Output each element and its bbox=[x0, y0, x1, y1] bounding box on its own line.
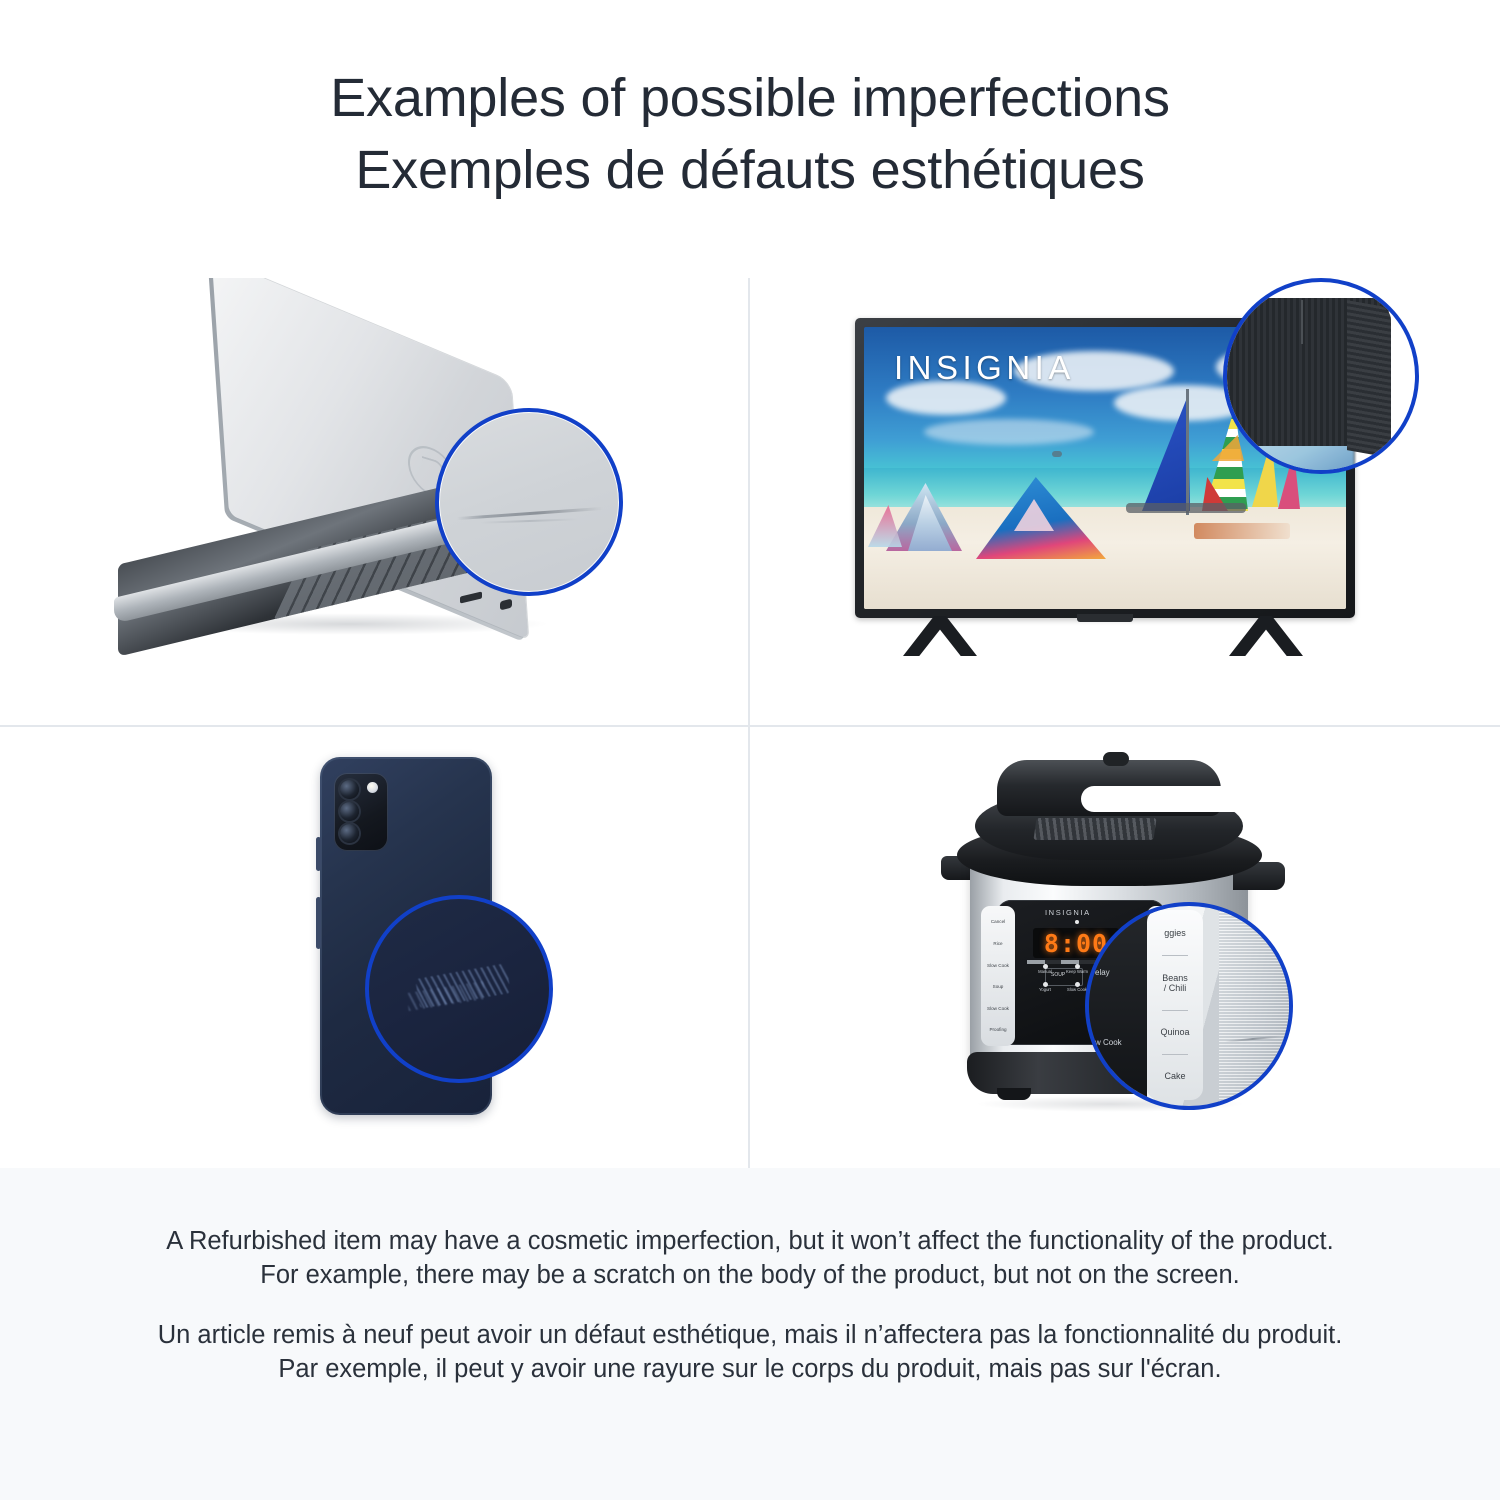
button-divider bbox=[1162, 1054, 1188, 1055]
cooker-button-slow-cook[interactable]: Slow Cook bbox=[983, 963, 1013, 968]
magnified-button-steam-veggies[interactable]: ggies bbox=[1164, 928, 1186, 938]
laptop-stage bbox=[0, 278, 748, 725]
insignia-brand-logo: INSIGNIA bbox=[894, 349, 1075, 387]
phone-power-button bbox=[316, 897, 321, 949]
cell-laptop bbox=[0, 278, 748, 725]
keypad-led bbox=[1043, 982, 1048, 987]
cooker-stage: INSIGNIA 8:00 SOUP Manual Keep Warm Dela… bbox=[750, 727, 1500, 1168]
tv-stand-right bbox=[1229, 616, 1303, 656]
keypad-button[interactable]: Manual bbox=[1031, 964, 1059, 975]
phone-stage bbox=[0, 727, 748, 1168]
button-divider bbox=[1162, 955, 1188, 956]
product-image-grid: INSIGNIA bbox=[0, 278, 1500, 1168]
keypad-button[interactable]: Keep Warm bbox=[1063, 964, 1091, 975]
cooker-magnified-buttons[interactable]: ggies Beans/ Chili Quinoa Cake bbox=[1147, 910, 1203, 1100]
laptop-scratch-mark-secondary bbox=[479, 518, 579, 523]
boat-hull bbox=[1126, 503, 1246, 513]
cooker-magnified-label-delay: elay bbox=[1095, 968, 1110, 977]
tv-bezel-seam bbox=[1301, 300, 1303, 344]
cooker-status-indicator bbox=[1075, 920, 1079, 924]
laptop-scratch-mark bbox=[457, 507, 603, 520]
cooker-brand-logo: INSIGNIA bbox=[1045, 908, 1091, 917]
camera-lens-icon bbox=[340, 802, 359, 821]
cooker-pressure-valve bbox=[1103, 752, 1129, 766]
magnifier-circle-tv bbox=[1223, 278, 1419, 474]
camera-lens-icon bbox=[340, 780, 359, 799]
keypad-led bbox=[1075, 982, 1080, 987]
tv-stand-left bbox=[903, 616, 977, 656]
camera-flash-icon bbox=[367, 782, 378, 793]
magnifier-circle-laptop bbox=[435, 408, 623, 596]
phone-volume-button bbox=[316, 837, 321, 871]
page-header: Examples of possible imperfections Exemp… bbox=[0, 0, 1500, 278]
keypad-led bbox=[1075, 964, 1080, 969]
sailboat-mast bbox=[1186, 389, 1189, 515]
magnified-button-cake[interactable]: Cake bbox=[1164, 1071, 1185, 1081]
caption-text-en: A Refurbished item may have a cosmetic i… bbox=[150, 1224, 1350, 1292]
pressure-cooker-illustration: INSIGNIA 8:00 SOUP Manual Keep Warm Dela… bbox=[935, 752, 1335, 1147]
laptop-illustration bbox=[140, 313, 610, 673]
cooker-handle-opening bbox=[1081, 786, 1261, 812]
phone-camera-module bbox=[334, 773, 388, 851]
tv-illustration: INSIGNIA bbox=[855, 318, 1375, 678]
keypad-button[interactable]: Yogurt bbox=[1031, 982, 1059, 993]
caption-panel: A Refurbished item may have a cosmetic i… bbox=[0, 1168, 1500, 1500]
cooker-button-rice[interactable]: Rice bbox=[983, 941, 1013, 946]
page-title-fr: Exemples de défauts esthétiques bbox=[355, 134, 1144, 206]
cooker-magnified-panel bbox=[1089, 906, 1147, 1106]
cell-television: INSIGNIA bbox=[750, 278, 1500, 725]
cooker-lid-label bbox=[1033, 818, 1156, 840]
beached-hull bbox=[1194, 523, 1290, 539]
page-title-en: Examples of possible imperfections bbox=[330, 62, 1170, 134]
magnifier-circle-cooker: elay w Cook ggies Beans/ Chili Quinoa Ca… bbox=[1085, 902, 1293, 1110]
caption-text-fr: Un article remis à neuf peut avoir un dé… bbox=[150, 1318, 1350, 1386]
page-root: Examples of possible imperfections Exemp… bbox=[0, 0, 1500, 1500]
cooker-lid-handle bbox=[997, 760, 1221, 816]
camera-lens-icon bbox=[340, 824, 359, 843]
cooker-button-proofing[interactable]: Proofing bbox=[983, 1027, 1013, 1032]
keypad-led bbox=[1043, 964, 1048, 969]
cooker-foot-left bbox=[997, 1088, 1031, 1100]
cloud-shape bbox=[924, 419, 1094, 445]
cooker-magnified-steel-surface bbox=[1219, 906, 1289, 1106]
cell-smartphone bbox=[0, 727, 748, 1168]
cell-pressure-cooker: INSIGNIA 8:00 SOUP Manual Keep Warm Dela… bbox=[750, 727, 1500, 1168]
phone-illustration bbox=[290, 747, 540, 1147]
cooker-button-soup[interactable]: Soup bbox=[983, 984, 1013, 989]
distant-boat bbox=[1052, 451, 1062, 457]
tv-stage: INSIGNIA bbox=[750, 278, 1500, 725]
cooker-buttons-left[interactable]: Cancel Rice Slow Cook Soup Slow Cook Pro… bbox=[981, 906, 1015, 1046]
button-divider bbox=[1162, 1010, 1188, 1011]
cooker-button-cancel[interactable]: Cancel bbox=[983, 919, 1013, 924]
magnified-button-beans-chili[interactable]: Beans/ Chili bbox=[1162, 973, 1188, 994]
magnifier-circle-phone bbox=[365, 895, 553, 1083]
cooker-button-slow-cook-2[interactable]: Slow Cook bbox=[983, 1006, 1013, 1011]
magnified-button-quinoa[interactable]: Quinoa bbox=[1160, 1027, 1189, 1037]
cooker-magnified-label-slowcook: w Cook bbox=[1095, 1038, 1122, 1047]
tv-magnified-bezel-side bbox=[1347, 300, 1391, 458]
tv-bottom-badge bbox=[1077, 614, 1133, 622]
